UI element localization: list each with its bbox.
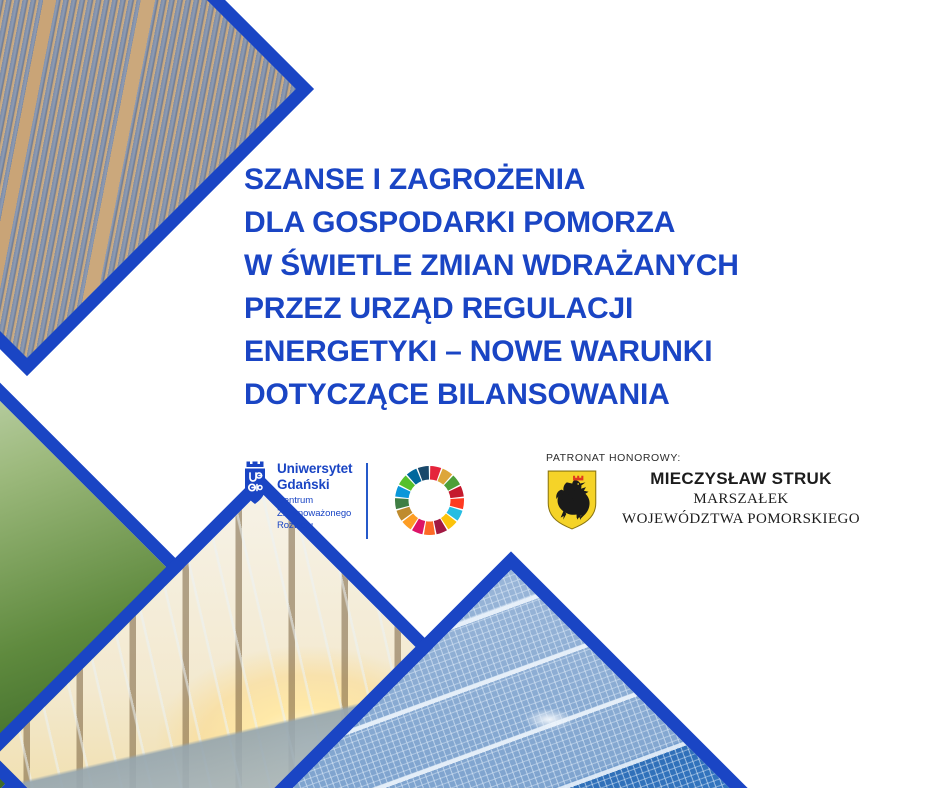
patron-role-line-1: MARSZAŁEK	[616, 489, 866, 509]
ug-unit-line-3: Rozwoju	[277, 520, 352, 533]
title-line-4: PRZEZ URZĄD REGULACJI	[244, 287, 904, 330]
university-of-gdansk-wordmark: Uniwersytet Gdański Centrum Zrównoważone…	[277, 460, 352, 533]
title-line-5: ENERGETYKI – NOWE WARUNKI	[244, 330, 904, 373]
ug-name-line-1: Uniwersytet	[277, 461, 352, 477]
poster-canvas: SZANSE I ZAGROŻENIA DLA GOSPODARKI POMOR…	[0, 0, 940, 788]
title-line-1: SZANSE I ZAGROŻENIA	[244, 158, 904, 201]
title-line-3: W ŚWIETLE ZMIAN WDRAŻANYCH	[244, 244, 904, 287]
patron-role-line-2: WOJEWÓDZTWA POMORSKIEGO	[616, 509, 866, 529]
title-line-2: DLA GOSPODARKI POMORZA	[244, 201, 904, 244]
patron-full-name: MIECZYSŁAW STRUK	[616, 468, 866, 489]
sdg-color-wheel-icon	[392, 463, 467, 538]
title-line-6: DOTYCZĄCE BILANSOWANIA	[244, 373, 904, 416]
patron-names: MIECZYSŁAW STRUK MARSZAŁEK WOJEWÓDZTWA P…	[616, 468, 866, 529]
patronage-label: PATRONAT HONOROWY:	[546, 452, 866, 464]
university-of-gdansk-logo: Uniwersytet Gdański Centrum Zrównoważone…	[240, 460, 352, 533]
pomerania-griffin-crest-icon	[546, 469, 598, 531]
honorary-patronage-block: PATRONAT HONOROWY:	[546, 452, 866, 531]
ug-unit-line-1: Centrum	[277, 495, 352, 508]
ug-unit-line-2: Zrównoważonego	[277, 508, 352, 521]
logo-strip: Uniwersytet Gdański Centrum Zrównoważone…	[240, 452, 860, 562]
ug-shield-crest-icon	[240, 460, 270, 505]
logo-divider	[366, 463, 368, 539]
ug-name-line-2: Gdański	[277, 477, 352, 493]
sdg-wheel-segment	[424, 521, 435, 535]
poster-title: SZANSE I ZAGROŻENIA DLA GOSPODARKI POMOR…	[244, 158, 904, 416]
